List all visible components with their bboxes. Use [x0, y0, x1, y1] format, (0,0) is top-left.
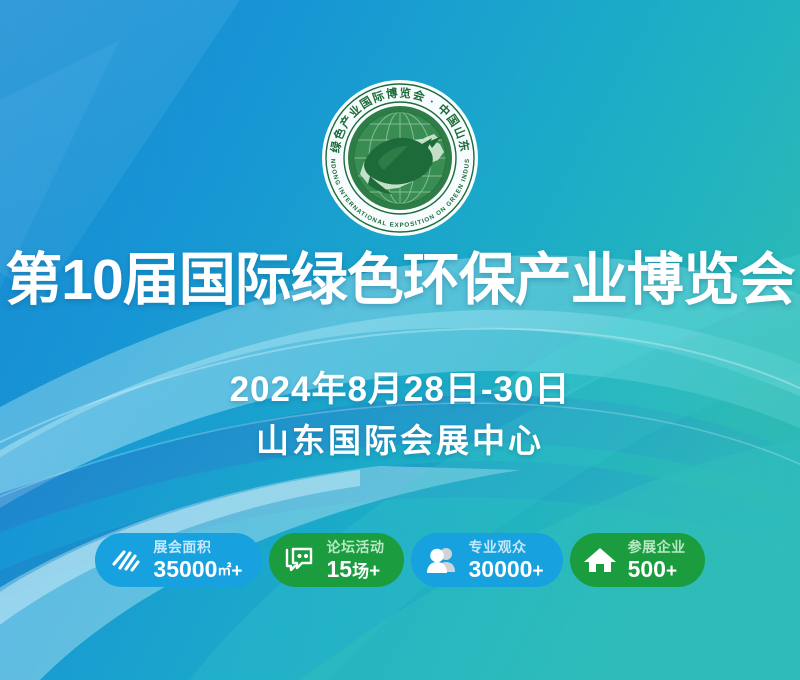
- two-people-icon: [424, 543, 458, 577]
- poster-title: 第10届国际绿色环保产业博览会: [0, 252, 800, 309]
- stat-badge-forum-events[interactable]: 论坛活动 15场+: [269, 533, 404, 587]
- stat-label: 参展企业: [628, 540, 686, 554]
- hatch-stripes-icon: [108, 543, 142, 577]
- stat-value: 15场+: [327, 558, 385, 581]
- stat-text: 专业观众 30000+: [469, 540, 544, 581]
- stat-badge-professional-visitors[interactable]: 专业观众 30000+: [411, 533, 563, 587]
- stat-text: 参展企业 500+: [628, 540, 686, 581]
- stat-badge-exhibition-area[interactable]: 展会面积 35000㎡+: [95, 533, 261, 587]
- stat-label: 展会面积: [153, 540, 242, 554]
- stat-value: 30000+: [469, 558, 544, 581]
- speech-bubbles-icon: [282, 543, 316, 577]
- stat-value: 500+: [628, 558, 686, 581]
- event-date: 2024年8月28日-30日: [0, 372, 800, 407]
- stat-text: 展会面积 35000㎡+: [153, 540, 242, 581]
- expo-logo: 绿色产业国际博览会 · 中国山东 SHANDONG INTERNATIONAL …: [320, 78, 480, 238]
- event-venue: 山东国际会展中心: [0, 424, 800, 457]
- stat-value: 35000㎡+: [153, 558, 242, 581]
- stat-label: 专业观众: [469, 540, 544, 554]
- stat-badge-exhibitor-companies[interactable]: 参展企业 500+: [570, 533, 705, 587]
- stats-row: 展会面积 35000㎡+ 论坛活动 15场+: [0, 533, 800, 587]
- stat-label: 论坛活动: [327, 540, 385, 554]
- stat-text: 论坛活动 15场+: [327, 540, 385, 581]
- expo-poster: 绿色产业国际博览会 · 中国山东 SHANDONG INTERNATIONAL …: [0, 0, 800, 680]
- emblem-icon: 绿色产业国际博览会 · 中国山东 SHANDONG INTERNATIONAL …: [320, 78, 480, 238]
- house-icon: [583, 543, 617, 577]
